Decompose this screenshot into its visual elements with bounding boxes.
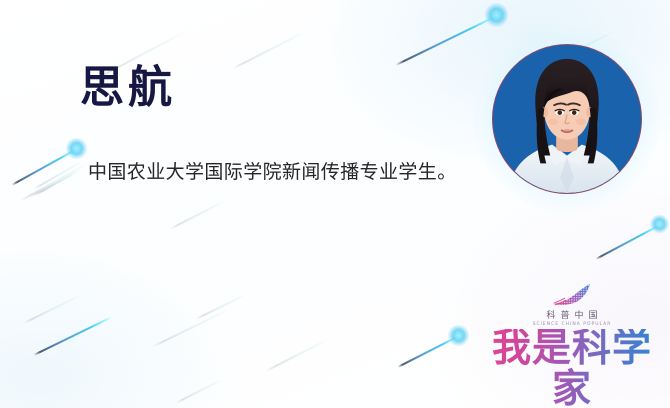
brand-lockup: 科普中国 SCIENCE CHINA POPULAR 我是科学家 I AM A … <box>484 282 660 408</box>
wing-mark-svg <box>549 282 595 310</box>
comet-head-glow <box>66 138 87 159</box>
wing-mark-icon <box>484 282 660 310</box>
portrait-illustration <box>493 45 641 193</box>
speaker-name: 思航 <box>80 66 176 110</box>
comet-streak <box>36 170 79 196</box>
speaker-bio: 中国农业大学国际学院新闻传播专业学生。 <box>88 163 457 182</box>
comet-streak <box>196 294 247 320</box>
comet-streak <box>170 200 226 230</box>
comet-streak <box>152 308 230 347</box>
comet-streak <box>395 15 497 66</box>
speaker-profile-card: 思航 中国农业大学国际学院新闻传播专业学生。 <box>0 0 670 408</box>
comet-head-glow <box>448 325 469 346</box>
brand-org-en: SCIENCE CHINA POPULAR <box>484 322 660 327</box>
comet-streak <box>34 160 83 190</box>
comet-streak <box>176 379 223 404</box>
portrait-frame <box>492 44 642 194</box>
comet-head-glow <box>650 215 668 233</box>
comet-streak <box>24 295 81 324</box>
comet-streak <box>397 335 459 368</box>
comet-head-glow <box>485 3 508 26</box>
brand-title-cn: 我是科学家 <box>484 329 660 408</box>
comet-streak <box>595 224 660 260</box>
comet-streak <box>30 169 82 198</box>
speaker-portrait <box>492 44 642 194</box>
brand-org-cn: 科普中国 <box>484 312 660 322</box>
comet-streak <box>232 30 308 70</box>
comet-streak <box>266 338 329 372</box>
comet-streak <box>20 162 89 202</box>
comet-streak <box>11 148 77 186</box>
comet-streak <box>33 316 111 356</box>
